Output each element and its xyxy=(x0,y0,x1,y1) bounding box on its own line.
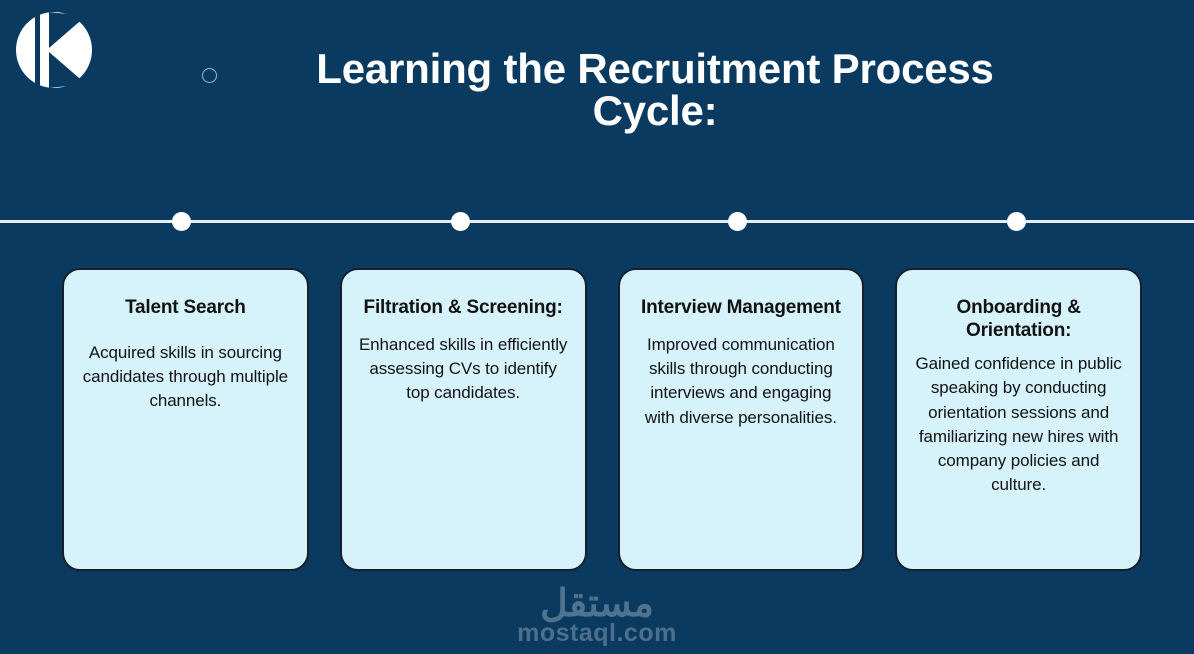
card-interview-management[interactable]: Interview Management Improved communicat… xyxy=(618,268,865,571)
card-body: Improved communication skills through co… xyxy=(636,333,847,430)
card-title: Onboarding & Orientation: xyxy=(911,296,1126,342)
decorative-circle-icon xyxy=(202,68,217,83)
card-filtration-screening[interactable]: Filtration & Screening: Enhanced skills … xyxy=(340,268,587,571)
card-body: Enhanced skills in efficiently assessing… xyxy=(358,333,569,405)
timeline-dot-2 xyxy=(451,212,470,231)
card-body: Gained confidence in public speaking by … xyxy=(913,352,1124,497)
card-title: Interview Management xyxy=(634,296,849,319)
card-talent-search[interactable]: Talent Search Acquired skills in sourcin… xyxy=(62,268,309,571)
card-title: Filtration & Screening: xyxy=(356,296,571,319)
letter-k-circle-logo-icon xyxy=(14,10,94,90)
card-body: Acquired skills in sourcing candidates t… xyxy=(80,341,291,413)
timeline-dot-3 xyxy=(728,212,747,231)
page-title: Learning the Recruitment Process Cycle: xyxy=(240,48,1070,132)
timeline-dot-1 xyxy=(172,212,191,231)
card-row: Talent Search Acquired skills in sourcin… xyxy=(62,268,1142,571)
watermark-arabic-text: مستقل xyxy=(0,585,1194,625)
timeline-dot-4 xyxy=(1007,212,1026,231)
watermark: مستقل mostaql.com xyxy=(0,585,1194,646)
card-title: Talent Search xyxy=(78,296,293,319)
card-onboarding-orientation[interactable]: Onboarding & Orientation: Gained confide… xyxy=(895,268,1142,571)
watermark-latin-text: mostaql.com xyxy=(0,621,1194,646)
slide-canvas: Learning the Recruitment Process Cycle: … xyxy=(0,0,1194,654)
